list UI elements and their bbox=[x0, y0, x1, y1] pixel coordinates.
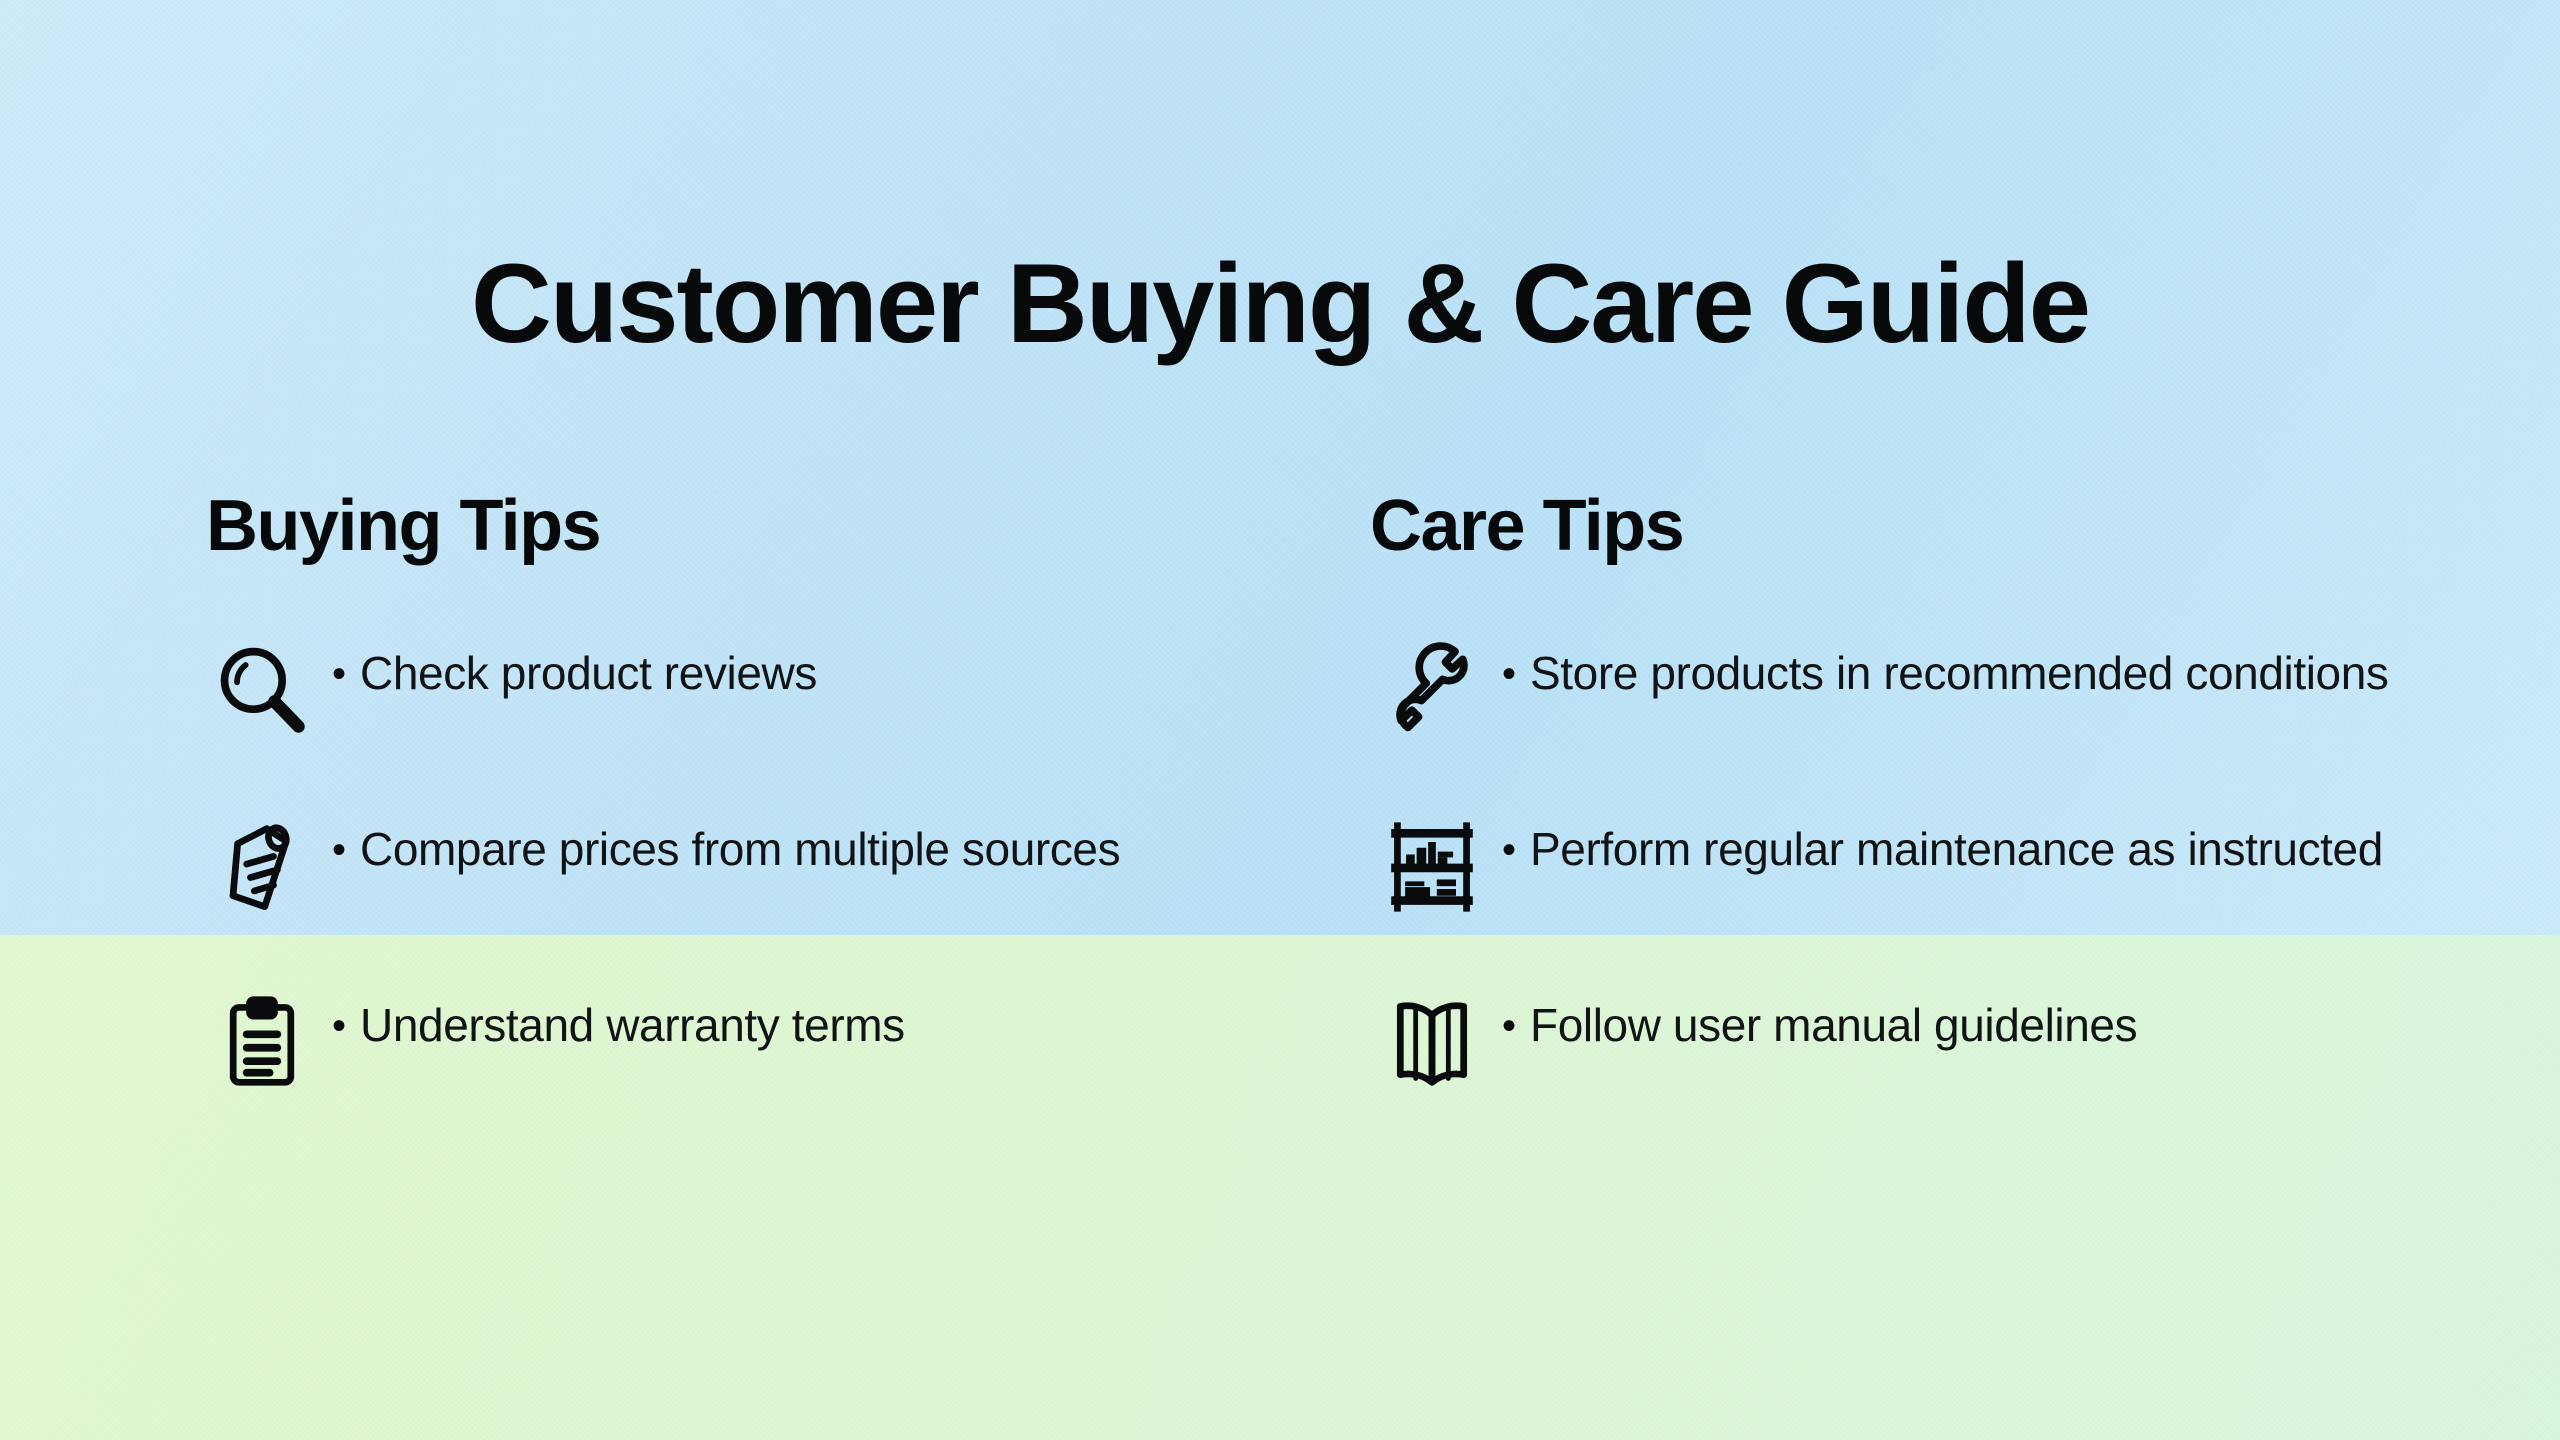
list-item: • Follow user manual guidelines bbox=[1370, 992, 2450, 1104]
tip-text: Understand warranty terms bbox=[360, 992, 1260, 1055]
tip-text: Perform regular maintenance as instructe… bbox=[1530, 816, 2450, 879]
column-buying-tips: Buying Tips • Check product reviews bbox=[200, 490, 1260, 1104]
tip-text: Store products in recommended conditions bbox=[1530, 640, 2450, 703]
clipboard-icon bbox=[200, 984, 324, 1100]
bullet-marker: • bbox=[1502, 816, 1516, 882]
price-tag-icon bbox=[200, 808, 324, 924]
column-heading-care: Care Tips bbox=[1370, 490, 2450, 562]
wrench-icon bbox=[1370, 632, 1494, 748]
shelf-icon bbox=[1370, 808, 1494, 924]
tip-text: Follow user manual guidelines bbox=[1530, 992, 2450, 1055]
magnifier-icon bbox=[200, 632, 324, 748]
infographic-canvas: Customer Buying & Care Guide Buying Tips… bbox=[0, 0, 2560, 1440]
column-care-tips: Care Tips • Store products in recommende… bbox=[1370, 490, 2450, 1104]
infographic-content: Customer Buying & Care Guide Buying Tips… bbox=[0, 0, 2560, 1440]
list-item: • Store products in recommended conditio… bbox=[1370, 640, 2450, 752]
tip-text: Compare prices from multiple sources bbox=[360, 816, 1260, 879]
list-item: • Understand warranty terms bbox=[200, 992, 1260, 1104]
tip-list-care: • Store products in recommended conditio… bbox=[1370, 640, 2450, 1104]
tip-text: Check product reviews bbox=[360, 640, 1260, 703]
bullet-marker: • bbox=[332, 640, 346, 706]
bullet-marker: • bbox=[332, 816, 346, 882]
column-heading-buying: Buying Tips bbox=[200, 490, 1260, 562]
bullet-marker: • bbox=[332, 992, 346, 1058]
tip-list-buying: • Check product reviews • Co bbox=[200, 640, 1260, 1104]
page-title: Customer Buying & Care Guide bbox=[0, 245, 2560, 363]
list-item: • Compare prices from multiple sources bbox=[200, 816, 1260, 928]
list-item: • Check product reviews bbox=[200, 640, 1260, 752]
list-item: • Perform regular maintenance as instruc… bbox=[1370, 816, 2450, 928]
open-book-icon bbox=[1370, 984, 1494, 1100]
bullet-marker: • bbox=[1502, 640, 1516, 706]
bullet-marker: • bbox=[1502, 992, 1516, 1058]
